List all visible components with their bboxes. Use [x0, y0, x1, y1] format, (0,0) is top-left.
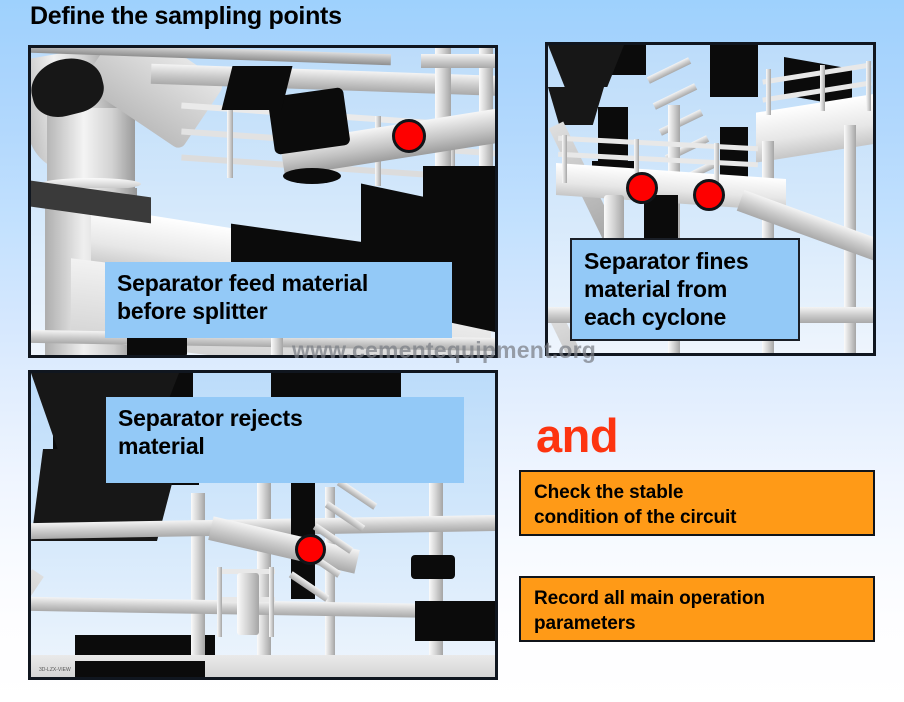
floor-dark-block	[75, 661, 205, 677]
photo-stamp: 3D-LZX-VIEW	[39, 667, 71, 673]
action-line-2: condition of the circuit	[534, 505, 863, 530]
motor-cap	[283, 168, 341, 184]
rail-post-right-2	[820, 65, 825, 111]
cage-post-a	[217, 567, 222, 637]
separator-fines-photo: Separator fines material from each cyclo…	[545, 42, 876, 356]
action-line-2: parameters	[534, 611, 863, 636]
sampling-point-dot	[392, 119, 426, 153]
sampling-point-dot	[626, 172, 658, 204]
cage-post-b	[269, 567, 274, 637]
action-line-1: Check the stable	[534, 480, 863, 505]
separator-rejects-photo: Separator rejects material 3D-LZX-VIEW	[28, 370, 498, 680]
callout-separator-fines: Separator fines material from each cyclo…	[570, 238, 800, 341]
cyclone-2-barrel	[710, 45, 758, 97]
callout-line-1: Separator rejects	[118, 404, 454, 432]
slide-canvas: Define the sampling points	[0, 0, 904, 702]
callout-line-2: material from	[584, 275, 788, 303]
callout-line-2: before splitter	[117, 297, 442, 325]
rail-post-1	[227, 108, 233, 178]
pipe-stub-fines	[604, 195, 624, 241]
rail-post-right-3	[866, 61, 871, 111]
sampling-post-1	[562, 135, 567, 183]
motor-right	[411, 555, 455, 579]
beam-right-top	[421, 54, 495, 68]
callout-line-2: material	[118, 432, 454, 460]
callout-separator-rejects: Separator rejects material	[106, 397, 464, 483]
action-box-record-parameters: Record all main operation parameters	[519, 576, 875, 642]
conjunction-and: and	[536, 408, 618, 463]
callout-line-1: Separator fines	[584, 247, 788, 275]
vertical-pipe	[237, 573, 259, 635]
callout-line-1: Separator feed material	[117, 269, 442, 297]
sampling-point-dot	[295, 534, 326, 565]
hopper-dark-top	[222, 66, 293, 110]
page-title: Define the sampling points	[30, 2, 342, 31]
dark-block-right	[423, 166, 495, 214]
callout-line-3: each cyclone	[584, 303, 788, 331]
column-frame-4	[325, 487, 335, 677]
callout-separator-feed: Separator feed material before splitter	[105, 262, 452, 338]
action-box-check-stability: Check the stable condition of the circui…	[519, 470, 875, 536]
action-line-1: Record all main operation	[534, 586, 863, 611]
sampling-point-dot	[693, 179, 725, 211]
machine-dark-right	[415, 601, 495, 641]
rail-post-right-1	[766, 69, 771, 115]
